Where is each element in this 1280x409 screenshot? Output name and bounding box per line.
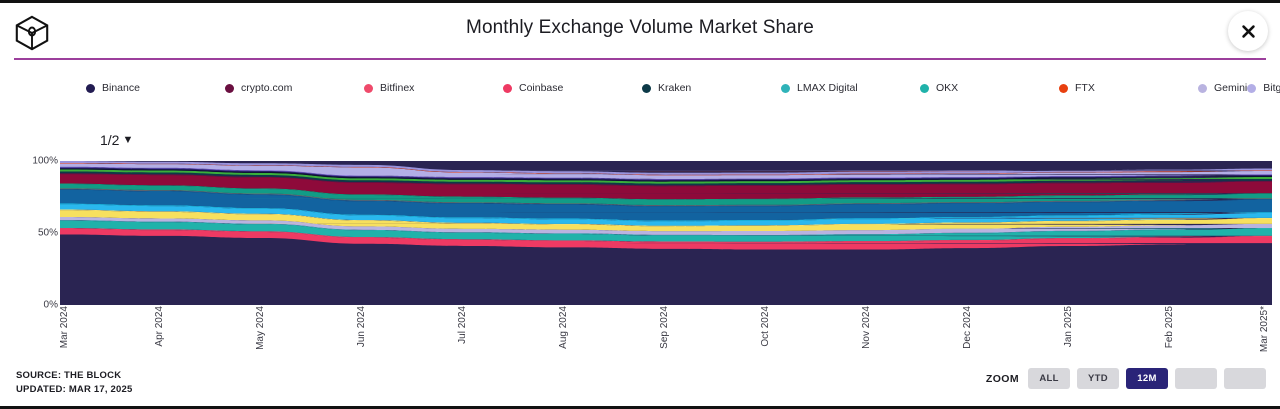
legend-item-label: OKX xyxy=(936,83,958,94)
chevron-down-icon: ▼ xyxy=(122,134,133,146)
zoom-controls: ZOOM ALLYTD12M xyxy=(986,368,1266,389)
x-axis-tick: May 2024 xyxy=(256,306,266,350)
x-axis-tick: Aug 2024 xyxy=(559,306,569,349)
card-footer: SOURCE: THE BLOCK UPDATED: MAR 17, 2025 … xyxy=(0,362,1280,406)
legend-item-lmax-digital[interactable]: LMAX Digital xyxy=(781,81,920,95)
legend-swatch-icon xyxy=(781,84,790,93)
y-axis-tick: 50% xyxy=(38,228,58,239)
legend-item-gemini[interactable]: Gemini xyxy=(1198,81,1247,95)
legend-swatch-icon xyxy=(503,84,512,93)
legend-swatch-icon xyxy=(1198,84,1207,93)
stacked-area-chart[interactable] xyxy=(60,161,1272,305)
y-axis-tick: 100% xyxy=(32,156,58,167)
zoom-button-blank-3[interactable] xyxy=(1175,368,1217,389)
legend-pager-button[interactable]: 1/2 ▼ xyxy=(100,132,133,148)
legend-item-crypto-com[interactable]: crypto.com xyxy=(225,81,364,95)
card-header: Monthly Exchange Volume Market Share xyxy=(0,3,1280,59)
x-axis-tick: Apr 2024 xyxy=(155,306,165,347)
x-axis: Mar 2024Apr 2024May 2024Jun 2024Jul 2024… xyxy=(60,306,1272,368)
x-axis-tick: Feb 2025 xyxy=(1165,306,1175,348)
x-axis-tick: Oct 2024 xyxy=(761,306,771,347)
legend-item-label: Bitfinex xyxy=(380,83,414,94)
x-axis-tick: Sep 2024 xyxy=(660,306,670,349)
zoom-button-blank-4[interactable] xyxy=(1224,368,1266,389)
legend-item-label: Coinbase xyxy=(519,83,563,94)
legend-swatch-icon xyxy=(642,84,651,93)
close-button[interactable] xyxy=(1228,11,1268,51)
legend-item-label: Bitget xyxy=(1263,83,1280,94)
legend-swatch-icon xyxy=(1247,84,1256,93)
legend-swatch-icon xyxy=(1059,84,1068,93)
legend-swatch-icon xyxy=(86,84,95,93)
legend-swatch-icon xyxy=(225,84,234,93)
legend-item-label: LMAX Digital xyxy=(797,83,858,94)
source-attribution: SOURCE: THE BLOCK UPDATED: MAR 17, 2025 xyxy=(16,369,132,397)
legend-swatch-icon xyxy=(364,84,373,93)
legend-item-okx[interactable]: OKX xyxy=(920,81,1059,95)
y-axis: 100%50%0% xyxy=(18,153,58,305)
zoom-button-all[interactable]: ALL xyxy=(1028,368,1070,389)
x-axis-tick: Jun 2024 xyxy=(357,306,367,347)
legend-swatch-icon xyxy=(920,84,929,93)
legend-item-bitget[interactable]: Bitget xyxy=(1247,81,1280,95)
y-axis-tick: 0% xyxy=(44,300,58,311)
legend-item-label: Binance xyxy=(102,83,140,94)
x-axis-tick: Mar 2025* xyxy=(1260,306,1270,352)
x-axis-tick: Jul 2024 xyxy=(458,306,468,344)
close-icon xyxy=(1240,23,1257,40)
x-axis-tick: Dec 2024 xyxy=(963,306,973,349)
legend-item-ftx[interactable]: FTX xyxy=(1059,81,1198,95)
legend-item-coinbase[interactable]: Coinbase xyxy=(503,81,642,95)
legend-item-label: Gemini xyxy=(1214,83,1247,94)
source-line: SOURCE: THE BLOCK xyxy=(16,369,132,383)
chart-card: Monthly Exchange Volume Market Share Bin… xyxy=(0,0,1280,409)
zoom-button-ytd[interactable]: YTD xyxy=(1077,368,1119,389)
legend-item-label: Kraken xyxy=(658,83,691,94)
updated-line: UPDATED: MAR 17, 2025 xyxy=(16,383,132,397)
legend-item-bitfinex[interactable]: Bitfinex xyxy=(364,81,503,95)
legend-pager-label: 1/2 xyxy=(100,132,119,148)
legend-item-label: FTX xyxy=(1075,83,1095,94)
page-title: Monthly Exchange Volume Market Share xyxy=(0,17,1280,39)
legend-item-label: crypto.com xyxy=(241,83,292,94)
legend-item-kraken[interactable]: Kraken xyxy=(642,81,781,95)
legend-item-binance[interactable]: Binance xyxy=(86,81,225,95)
x-axis-tick: Jan 2025 xyxy=(1064,306,1074,347)
zoom-label: ZOOM xyxy=(986,373,1019,385)
chart-plot-area: 100%50%0% xyxy=(0,153,1280,313)
chart-legend: Binancecrypto.comBitfinexCoinbaseKrakenL… xyxy=(86,81,1266,95)
x-axis-tick: Nov 2024 xyxy=(862,306,872,349)
x-axis-tick: Mar 2024 xyxy=(60,306,70,348)
header-divider xyxy=(14,58,1266,60)
zoom-button-12m[interactable]: 12M xyxy=(1126,368,1168,389)
stacked-area-svg xyxy=(60,161,1272,305)
